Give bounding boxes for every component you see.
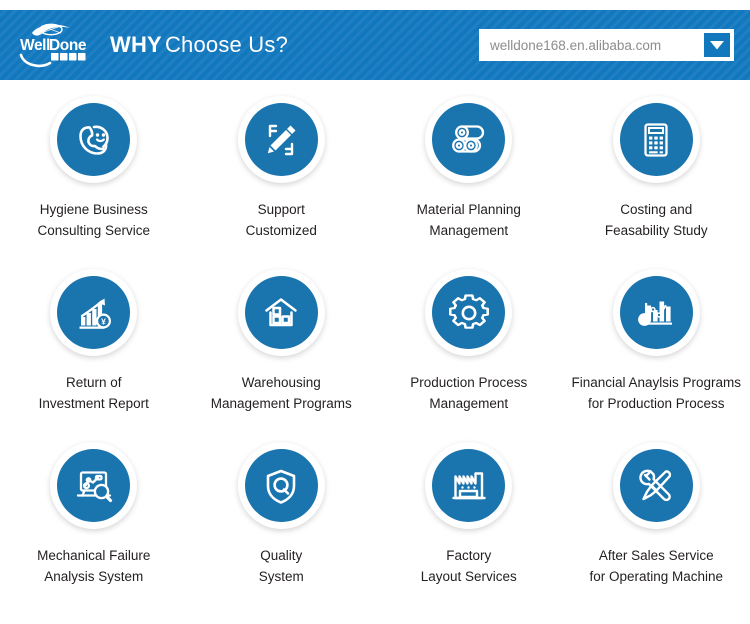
feature-card[interactable]: Quality System bbox=[188, 434, 376, 607]
feature-label-line2: Customized bbox=[246, 220, 317, 241]
feature-grid: Hygiene Business Consulting Service bbox=[0, 88, 750, 607]
wrench-screwdriver-icon bbox=[620, 449, 693, 522]
icon-badge bbox=[50, 96, 137, 183]
feature-card[interactable]: ¥ Return of Investment Report bbox=[0, 261, 188, 434]
feature-label-line1: Costing and bbox=[605, 199, 708, 220]
svg-text:¥: ¥ bbox=[101, 316, 106, 326]
feature-label: Factory Layout Services bbox=[421, 545, 517, 587]
feature-label-line2: Investment Report bbox=[39, 393, 149, 414]
feature-label-line2: Consulting Service bbox=[37, 220, 150, 241]
feature-label-line1: Return of bbox=[39, 372, 149, 393]
header-bar: Well Done WHYChoose Us? welldone168.en.a… bbox=[0, 10, 750, 80]
feature-card[interactable]: Support Customized bbox=[188, 88, 376, 261]
feature-label-line1: Mechanical Failure bbox=[37, 545, 150, 566]
factory-icon bbox=[432, 449, 505, 522]
warehouse-boxes-icon bbox=[245, 276, 318, 349]
icon-badge bbox=[238, 442, 325, 529]
feature-card[interactable]: Mechanical Failure Analysis System bbox=[0, 434, 188, 607]
pencil-brackets-icon bbox=[245, 103, 318, 176]
feature-card[interactable]: Warehousing Management Programs bbox=[188, 261, 376, 434]
feature-label-line2: for Operating Machine bbox=[589, 566, 723, 587]
feature-label: Mechanical Failure Analysis System bbox=[37, 545, 150, 587]
feature-label: Hygiene Business Consulting Service bbox=[37, 199, 150, 241]
icon-badge bbox=[613, 442, 700, 529]
feature-label-line1: Warehousing bbox=[211, 372, 352, 393]
phone-smiley-icon bbox=[57, 103, 130, 176]
feature-label: After Sales Service for Operating Machin… bbox=[589, 545, 723, 587]
gear-icon bbox=[432, 276, 505, 349]
icon-badge bbox=[50, 442, 137, 529]
icon-badge: ¥ bbox=[50, 269, 137, 356]
feature-label-line2: Layout Services bbox=[421, 566, 517, 587]
svg-text:Done: Done bbox=[49, 37, 87, 54]
feature-card[interactable]: Costing and Feasability Study bbox=[563, 88, 750, 261]
growth-chart-coin-icon: ¥ bbox=[57, 276, 130, 349]
feature-label-line1: Quality bbox=[259, 545, 304, 566]
icon-badge bbox=[425, 96, 512, 183]
feature-label: Material Planning Management bbox=[417, 199, 521, 241]
feature-label-line2: for Production Process bbox=[571, 393, 741, 414]
icon-badge bbox=[613, 269, 700, 356]
svg-text:Well: Well bbox=[20, 37, 50, 54]
feature-card[interactable]: Material Planning Management bbox=[375, 88, 563, 261]
feature-label: Production Process Management bbox=[410, 372, 527, 414]
laptop-diagnostics-magnifier-icon bbox=[57, 449, 130, 522]
calculator-icon bbox=[620, 103, 693, 176]
icon-badge bbox=[238, 269, 325, 356]
feature-label: Warehousing Management Programs bbox=[211, 372, 352, 414]
feature-label-line1: Hygiene Business bbox=[37, 199, 150, 220]
feature-label-line1: Material Planning bbox=[417, 199, 521, 220]
feature-card[interactable]: Hygiene Business Consulting Service bbox=[0, 88, 188, 261]
shield-q-icon bbox=[245, 449, 318, 522]
url-field[interactable]: welldone168.en.alibaba.com bbox=[479, 29, 734, 61]
icon-badge bbox=[238, 96, 325, 183]
feature-label-line2: Management bbox=[417, 220, 521, 241]
feature-label-line2: Management Programs bbox=[211, 393, 352, 414]
feature-label-line1: Support bbox=[246, 199, 317, 220]
feature-label-line1: Factory bbox=[421, 545, 517, 566]
headline: WHYChoose Us? bbox=[110, 34, 288, 56]
feature-label-line2: Feasability Study bbox=[605, 220, 708, 241]
feature-card[interactable]: After Sales Service for Operating Machin… bbox=[563, 434, 750, 607]
url-text[interactable]: welldone168.en.alibaba.com bbox=[490, 38, 704, 53]
why-choose-us-banner: Well Done WHYChoose Us? welldone168.en.a… bbox=[0, 0, 750, 624]
feature-label-line1: Production Process bbox=[410, 372, 527, 393]
feature-label-line2: Management bbox=[410, 393, 527, 414]
icon-badge bbox=[613, 96, 700, 183]
feature-card[interactable]: Financial Anaylsis Programs for Producti… bbox=[563, 261, 750, 434]
feature-label-line1: Financial Anaylsis Programs bbox=[571, 372, 741, 393]
welldone-logo: Well Done bbox=[18, 19, 96, 71]
feature-card[interactable]: Production Process Management bbox=[375, 261, 563, 434]
financial-analysis-chart-icon bbox=[620, 276, 693, 349]
feature-label: Costing and Feasability Study bbox=[605, 199, 708, 241]
feature-label: Support Customized bbox=[246, 199, 317, 241]
chevron-down-icon[interactable] bbox=[704, 33, 730, 57]
headline-why: WHY bbox=[110, 32, 162, 57]
feature-card[interactable]: Factory Layout Services bbox=[375, 434, 563, 607]
feature-label: Quality System bbox=[259, 545, 304, 587]
feature-label: Return of Investment Report bbox=[39, 372, 149, 414]
material-rolls-icon bbox=[432, 103, 505, 176]
feature-label-line2: System bbox=[259, 566, 304, 587]
feature-label: Financial Anaylsis Programs for Producti… bbox=[571, 372, 741, 414]
icon-badge bbox=[425, 442, 512, 529]
headline-rest: Choose Us? bbox=[165, 32, 288, 57]
feature-label-line1: After Sales Service bbox=[589, 545, 723, 566]
icon-badge bbox=[425, 269, 512, 356]
feature-label-line2: Analysis System bbox=[37, 566, 150, 587]
